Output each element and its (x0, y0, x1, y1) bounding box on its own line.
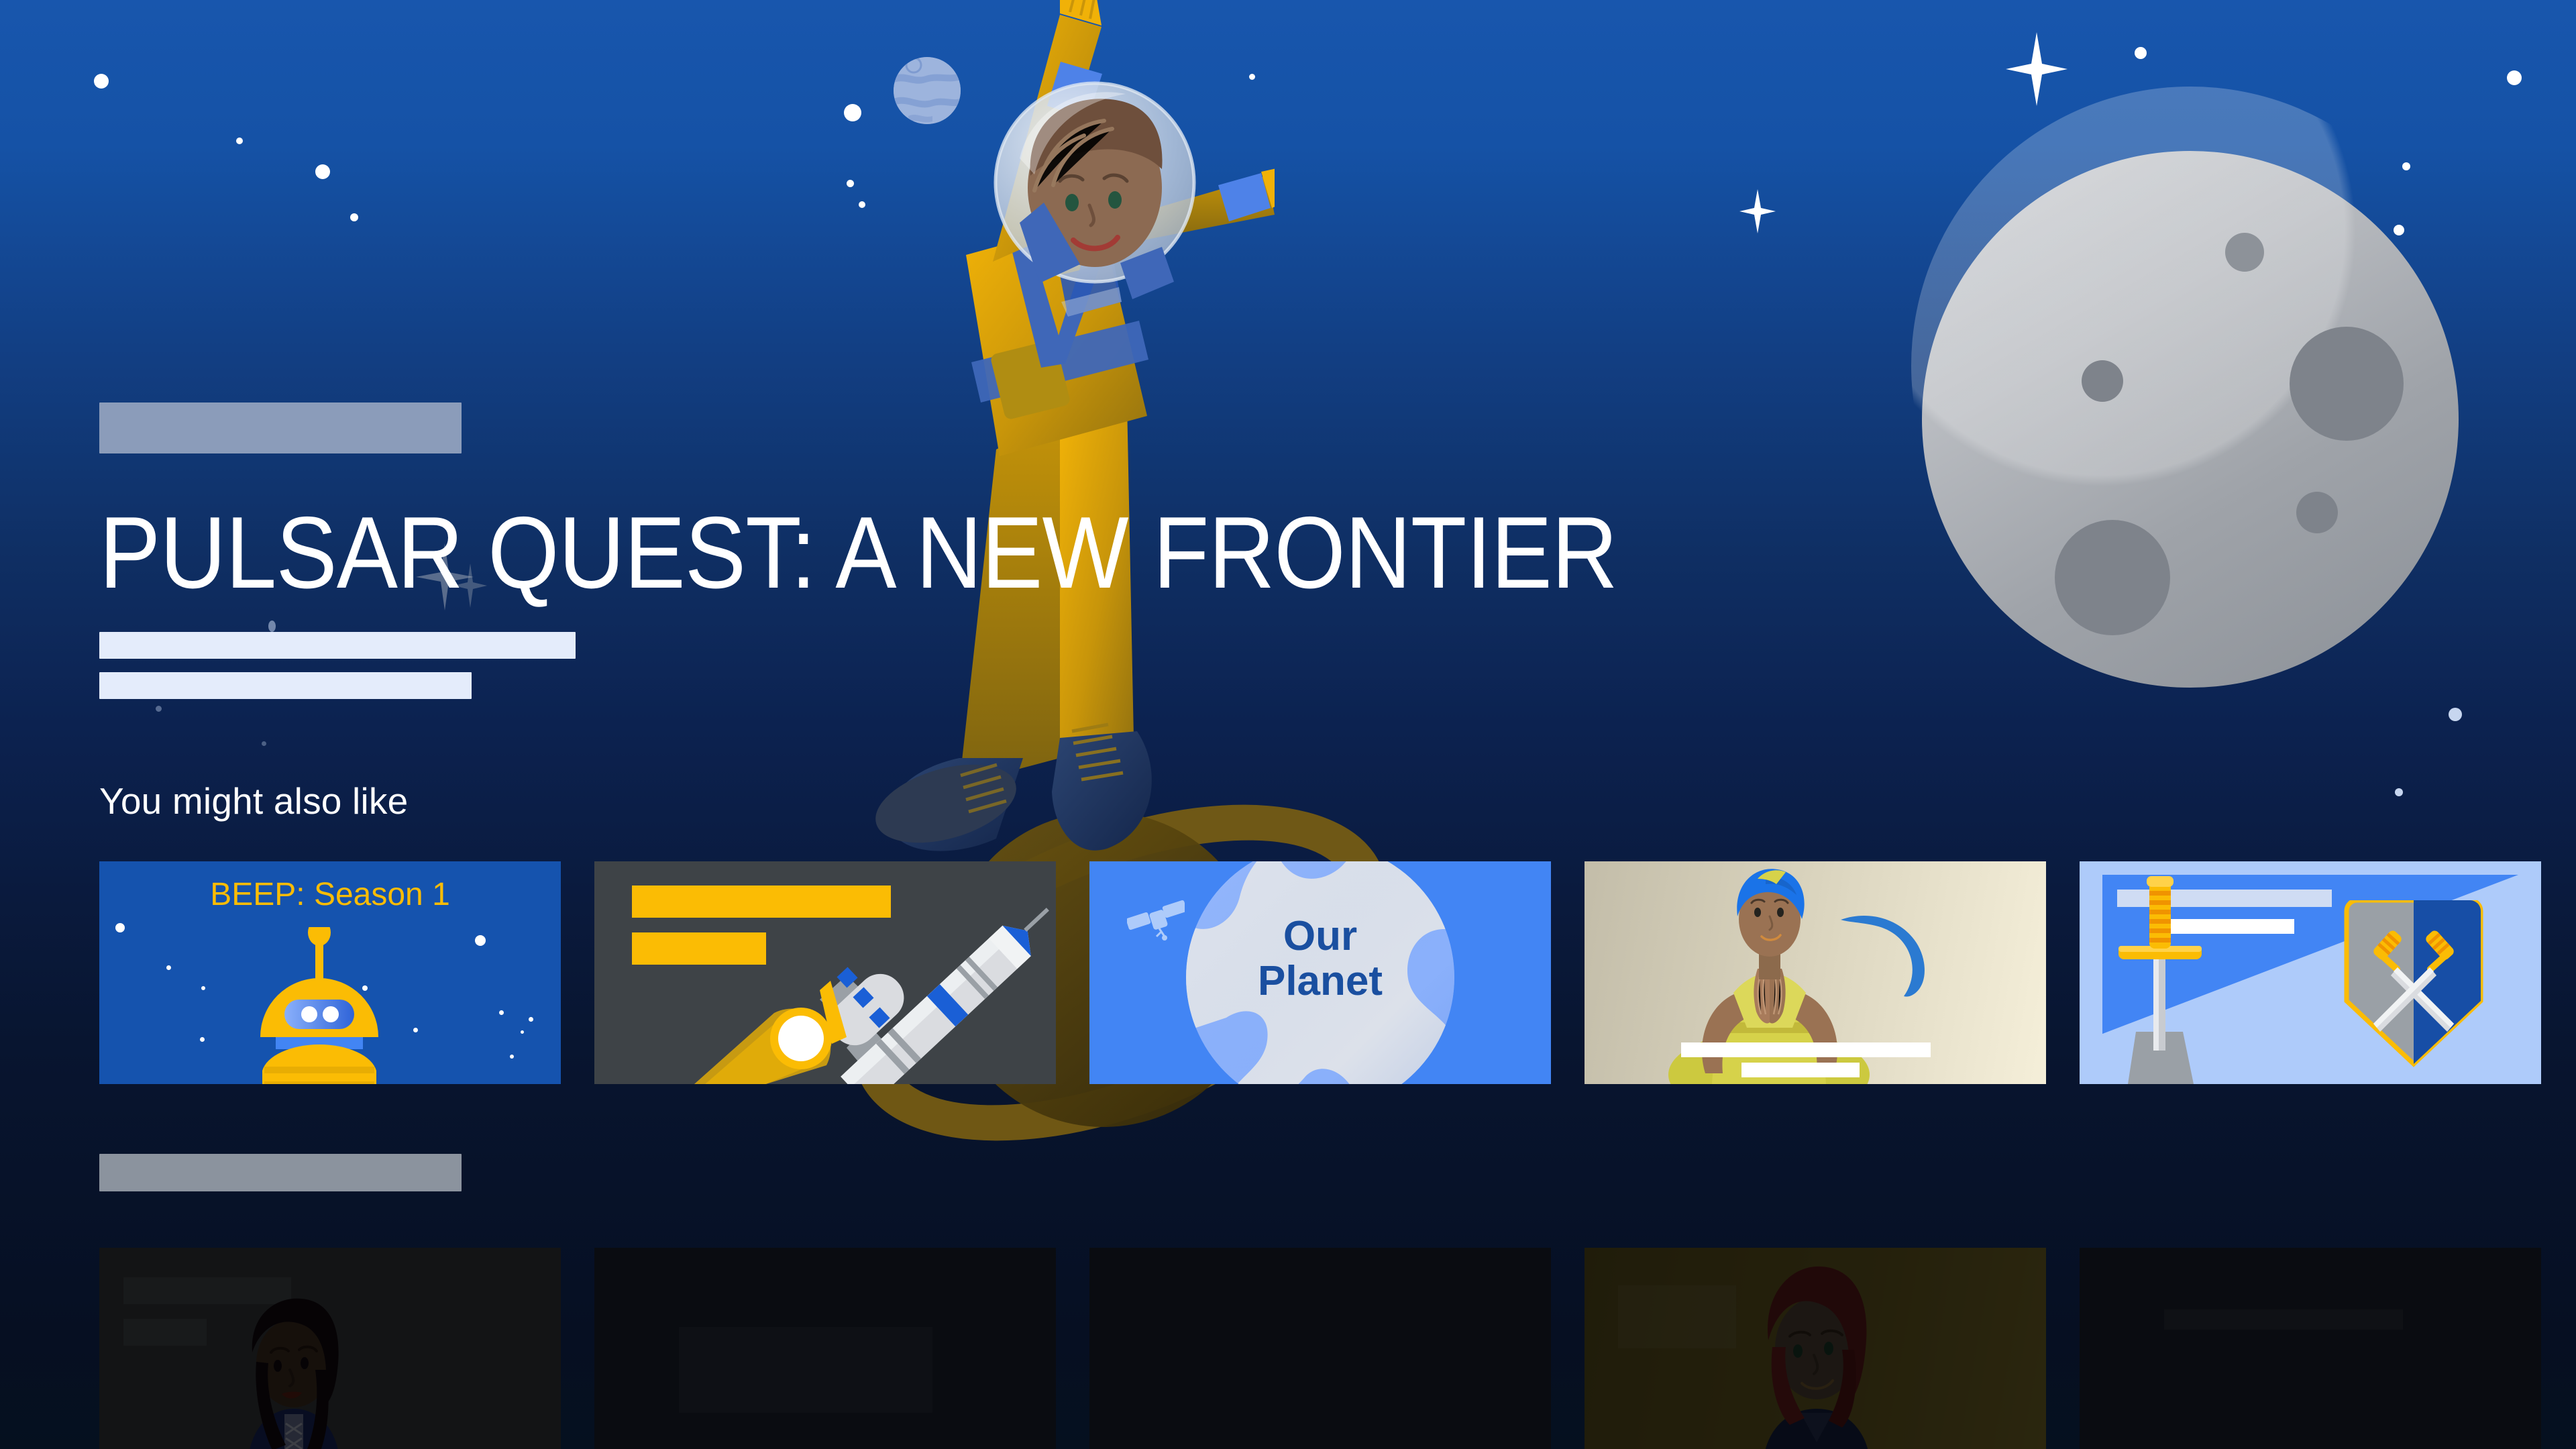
title-placeholder-bar (99, 402, 462, 453)
card-placeholder-bar (1741, 1063, 1860, 1077)
rail-heading: You might also like (99, 780, 2420, 822)
card-title: Our Planet (1089, 914, 1551, 1004)
card-placeholder-bar (1681, 1042, 1931, 1057)
card-rocket-launch[interactable] (594, 861, 1056, 1084)
portrait-woman-redhair-icon (1716, 1263, 1917, 1449)
card-woman-dark-hair[interactable] (99, 1248, 561, 1449)
card-title-line-2: Planet (1089, 959, 1551, 1004)
second-rail (99, 1154, 2420, 1449)
card-placeholder-bar (123, 1319, 207, 1346)
card-placeholder[interactable] (2080, 1248, 2541, 1449)
subtitle-placeholder-bar-1 (99, 632, 576, 659)
card-woman-red-hair[interactable] (1585, 1248, 2046, 1449)
robot-icon (232, 927, 407, 1084)
card-beep-season-1[interactable]: BEEP: Season 1 (99, 861, 561, 1084)
subtitle-placeholder-bar-2 (99, 672, 472, 699)
card-meditation[interactable] (1585, 861, 2046, 1084)
card-row (99, 1248, 2420, 1449)
moon-crater (2290, 327, 2404, 441)
sparkle-icon (1739, 189, 1776, 233)
card-placeholder-bar (2164, 1309, 2403, 1330)
card-row: BEEP: Season 1 (99, 861, 2420, 1084)
rail-heading-placeholder (99, 1154, 462, 1191)
moon-crater (2055, 520, 2170, 635)
card-title: BEEP: Season 1 (99, 876, 561, 913)
sparkle-icon (2006, 32, 2068, 106)
shield-crossed-swords-icon (2340, 900, 2487, 1068)
recommendations-rail: You might also like BEEP: Season 1 (99, 780, 2420, 1084)
page-title: PULSAR QUEST: A NEW FRONTIER (99, 504, 1850, 602)
portrait-woman-braid-icon (207, 1296, 381, 1449)
hero-text-block: PULSAR QUEST: A NEW FRONTIER (99, 402, 2045, 699)
sword-in-stone-icon (2108, 876, 2215, 1084)
rocket-icon (688, 868, 1056, 1084)
card-placeholder[interactable] (1089, 1248, 1551, 1449)
moon-crater (2082, 360, 2123, 402)
card-our-planet[interactable]: Our Planet (1089, 861, 1551, 1084)
card-placeholder-bar (679, 1327, 932, 1413)
hero-scene: PULSAR QUEST: A NEW FRONTIER You might a… (0, 0, 2576, 1449)
moon-crater (2225, 233, 2264, 272)
crescent-moon-icon (1831, 898, 1933, 999)
card-sword-shield[interactable] (2080, 861, 2541, 1084)
card-placeholder[interactable] (594, 1248, 1056, 1449)
moon-crater (2296, 492, 2338, 533)
card-title-line-1: Our (1089, 914, 1551, 959)
